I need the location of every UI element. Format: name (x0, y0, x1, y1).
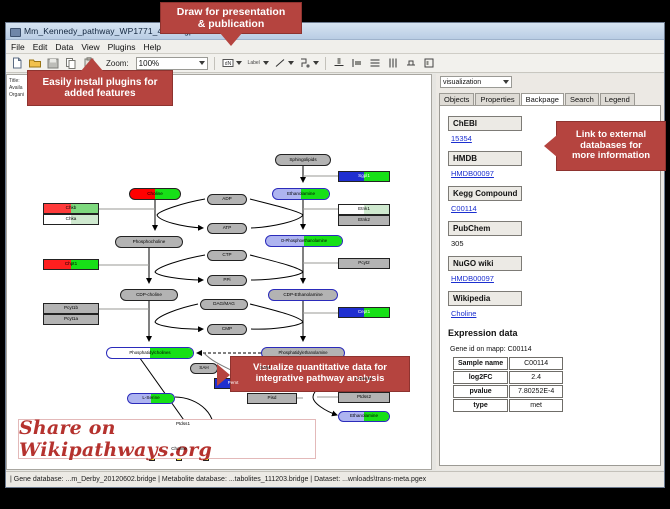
chevron-down-icon[interactable] (263, 61, 269, 65)
db-value-pubchem: 305 (451, 239, 652, 248)
node-label: Pcyt1a (64, 317, 78, 322)
save-icon[interactable] (46, 56, 60, 70)
svg-text:dN: dN (224, 61, 231, 67)
db-link-nugo-wiki[interactable]: HMDB00097 (451, 274, 652, 283)
node-label: Phosphatidylcholines (129, 351, 170, 355)
menu-file[interactable]: File (11, 42, 25, 52)
node-pisd[interactable]: Pisd (247, 393, 297, 404)
db-header-chebi: ChEBI (448, 116, 522, 131)
interaction-tool[interactable] (298, 56, 319, 70)
chevron-down-icon[interactable] (313, 61, 319, 65)
toolbar-separator (325, 57, 326, 70)
stack-icon[interactable] (404, 56, 418, 70)
tab-search[interactable]: Search (565, 93, 599, 105)
node-label: Cept1 (358, 310, 370, 315)
new-file-icon[interactable] (10, 56, 24, 70)
chevron-down-icon[interactable] (236, 61, 242, 65)
callout-link-arrow-icon (544, 135, 557, 157)
node-pcyt1b[interactable]: Pcyt1b (43, 303, 99, 314)
callout-visualize: Visualize quantitative data for integrat… (230, 356, 410, 392)
menu-data[interactable]: Data (55, 42, 73, 52)
node-etnk1[interactable]: Etnk1 (338, 204, 390, 215)
open-folder-icon[interactable] (28, 56, 42, 70)
chevron-down-icon[interactable] (288, 61, 294, 65)
db-header-kegg-compound: Kegg Compound (448, 186, 522, 201)
datanode-tool[interactable]: dN (221, 56, 242, 70)
status-text: | Gene database: ...m_Derby_20120602.bri… (10, 476, 426, 483)
tab-objects[interactable]: Objects (439, 93, 474, 105)
table-row: Sample name C00114 (453, 357, 563, 370)
db-header-pubchem: PubChem (448, 221, 522, 236)
pathway-canvas[interactable]: Title: Availa Organi (6, 74, 432, 470)
menu-edit[interactable]: Edit (33, 42, 48, 52)
callout-draw: Draw for presentation & publication (160, 2, 302, 34)
callout-link: Link to external databases for more info… (556, 121, 666, 171)
app-icon (9, 26, 20, 37)
chevron-down-icon (199, 61, 205, 65)
db-header-hmdb: HMDB (448, 151, 522, 166)
db-header-wikipedia: Wikipedia (448, 291, 522, 306)
node-label: Etnk2 (358, 218, 370, 223)
callout-plugins: Easily install plugins for added feature… (27, 70, 173, 106)
line-tool[interactable] (273, 56, 294, 70)
node-label: ADP (222, 197, 231, 202)
node-l-serine-left[interactable]: L-Serine (127, 393, 175, 404)
db-link-kegg-compound[interactable]: C00114 (451, 204, 652, 213)
node-o-phosphoethanolamine[interactable]: O-Phosphoethanolamine (265, 235, 343, 247)
node-label: Chka (66, 217, 77, 222)
node-chpt1[interactable]: Chpt1 (43, 259, 99, 270)
node-ctp[interactable]: CTP (207, 250, 247, 261)
table-row: type met (453, 399, 563, 412)
node-label: CMP (222, 327, 232, 332)
status-bar: | Gene database: ...m_Derby_20120602.bri… (6, 471, 664, 487)
node-label: SAH (199, 366, 208, 371)
callout-draw-arrow-icon (220, 33, 242, 46)
node-label: L-Serine (355, 377, 372, 382)
cell-value: met (509, 399, 563, 412)
cell-value: 2.4 (509, 371, 563, 384)
node-label: Sgpl1 (358, 174, 370, 179)
node-etnk2[interactable]: Etnk2 (338, 215, 390, 226)
node-label: Pcyt2 (358, 261, 370, 266)
callout-link-text: Link to external databases for more info… (572, 130, 650, 163)
zoom-select[interactable]: 100% (136, 57, 208, 70)
callout-share-text: Share on Wikipathways.org (19, 417, 315, 461)
node-label: Pisd (268, 396, 277, 401)
visualization-value: visualization (443, 79, 481, 86)
node-sah[interactable]: SAH (190, 363, 218, 374)
node-cdp-ethanolamine[interactable]: CDP-Ethanolamine (268, 289, 338, 301)
distribute-vertical-icon[interactable] (368, 56, 382, 70)
zoom-label: Zoom: (106, 59, 129, 68)
expression-data-title: Expression data (448, 328, 652, 338)
node-label: Ethanolamine (287, 192, 315, 197)
table-row: pvalue 7.80252E-4 (453, 385, 563, 398)
cell-key: log2FC (453, 371, 508, 384)
node-label: Ptdss1 (176, 422, 190, 427)
node-label: O-Phosphoethanolamine (281, 239, 327, 243)
node-label: Pcyt1b (64, 306, 78, 311)
node-dag-mag[interactable]: DAG/MAG (200, 299, 248, 310)
node-label: Choline (147, 192, 163, 197)
distribute-horizontal-icon[interactable] (386, 56, 400, 70)
node-label: PPi (223, 278, 230, 283)
tab-legend[interactable]: Legend (600, 93, 635, 105)
node-label: Pemt (228, 381, 239, 386)
node-chka[interactable]: Chka (43, 214, 99, 225)
menu-bar: File Edit Data View Plugins Help (6, 40, 664, 54)
align-left-icon[interactable] (350, 56, 364, 70)
node-atp[interactable]: ATP (207, 223, 247, 234)
node-label: Phosphocholine (133, 240, 166, 245)
node-adp[interactable]: ADP (207, 194, 247, 205)
interaction-tool-icon[interactable] (298, 56, 312, 70)
node-label: L-Serine (142, 396, 159, 401)
node-phosphatidylcholines[interactable]: Phosphatidylcholines (106, 347, 194, 359)
node-label: CDP-Ethanolamine (283, 293, 322, 298)
side-panel-tabs: Objects Properties Backpage Search Legen… (439, 92, 661, 106)
db-header-nugo-wiki: NuGO wiki (448, 256, 522, 271)
chevron-down-icon (503, 80, 509, 84)
cell-key: pvalue (453, 385, 508, 398)
node-ptdss2[interactable]: Ptdss2 (338, 392, 390, 403)
node-label: Chkb (66, 206, 77, 211)
node-label: Sphingolipids (289, 158, 316, 163)
node-label: ATP (223, 226, 232, 231)
callout-plugins-arrow-icon (81, 58, 103, 71)
gene-id-on-mapp: Gene id on mapp: C00114 (450, 346, 652, 353)
table-row: log2FC 2.4 (453, 371, 563, 384)
line-tool-icon[interactable] (273, 56, 287, 70)
menu-plugins[interactable]: Plugins (108, 42, 136, 52)
align-bottom-icon[interactable] (332, 56, 346, 70)
group-icon[interactable] (422, 56, 436, 70)
node-phosphocholine[interactable]: Phosphocholine (115, 236, 183, 248)
node-cmp[interactable]: CMP (207, 324, 247, 335)
screenshot-root: Mm_Kennedy_pathway_WP1771_45176.gpml Fil… (0, 0, 670, 509)
node-sgpl1[interactable]: Sgpl1 (338, 171, 390, 182)
node-cdp-choline[interactable]: CDP-choline (120, 289, 178, 301)
datanode-icon[interactable]: dN (221, 56, 235, 70)
cell-value: C00114 (509, 357, 563, 370)
node-ppi[interactable]: PPi (207, 275, 247, 286)
label-tool[interactable]: Label (246, 56, 269, 70)
pathway-diagram: Sphingolipids Ethanolamine O-Phosphoetha… (7, 75, 432, 470)
node-label: Ethanolamine (350, 414, 378, 419)
menu-help[interactable]: Help (144, 42, 161, 52)
menu-view[interactable]: View (81, 42, 99, 52)
node-label: CDP-choline (136, 293, 162, 298)
callout-plugins-text: Easily install plugins for added feature… (42, 77, 157, 100)
node-choline-top[interactable]: Choline (129, 188, 181, 200)
callout-share: Share on Wikipathways.org (18, 419, 316, 459)
node-label: Etnk1 (358, 207, 370, 212)
db-link-wikipedia[interactable]: Choline (451, 309, 652, 318)
expression-table: Sample name C00114 log2FC 2.4 pvalue 7.8… (452, 356, 564, 413)
zoom-value: 100% (139, 59, 159, 68)
node-chkb[interactable]: Chkb (43, 203, 99, 214)
cell-value: 7.80252E-4 (509, 385, 563, 398)
tab-properties[interactable]: Properties (475, 93, 519, 105)
title-bar: Mm_Kennedy_pathway_WP1771_45176.gpml (6, 23, 664, 40)
copy-icon[interactable] (64, 56, 78, 70)
toolbar-separator (214, 57, 215, 70)
visualization-select[interactable]: visualization (440, 76, 512, 88)
node-ethanolamine-right[interactable]: Ethanolamine (338, 411, 390, 422)
node-label: Chpt1 (65, 262, 77, 267)
node-label: CTP (222, 253, 231, 258)
node-ethanolamine-top[interactable]: Ethanolamine (272, 188, 330, 200)
label-tool-text: Label (246, 56, 262, 70)
node-sphingolipids[interactable]: Sphingolipids (275, 154, 331, 166)
cell-key: Sample name (453, 357, 508, 370)
cell-key: type (453, 399, 508, 412)
callout-draw-text: Draw for presentation & publication (177, 6, 286, 30)
node-pcyt2[interactable]: Pcyt2 (338, 258, 390, 269)
node-cept1[interactable]: Cept1 (338, 307, 390, 318)
node-label: DAG/MAG (213, 302, 235, 307)
node-label: Ptdss2 (357, 395, 371, 400)
node-label: Phosphatidylethanolamine (278, 351, 327, 355)
node-pcyt1a[interactable]: Pcyt1a (43, 314, 99, 325)
node-label: Choline (171, 447, 187, 452)
node-label: SAM (260, 366, 270, 371)
